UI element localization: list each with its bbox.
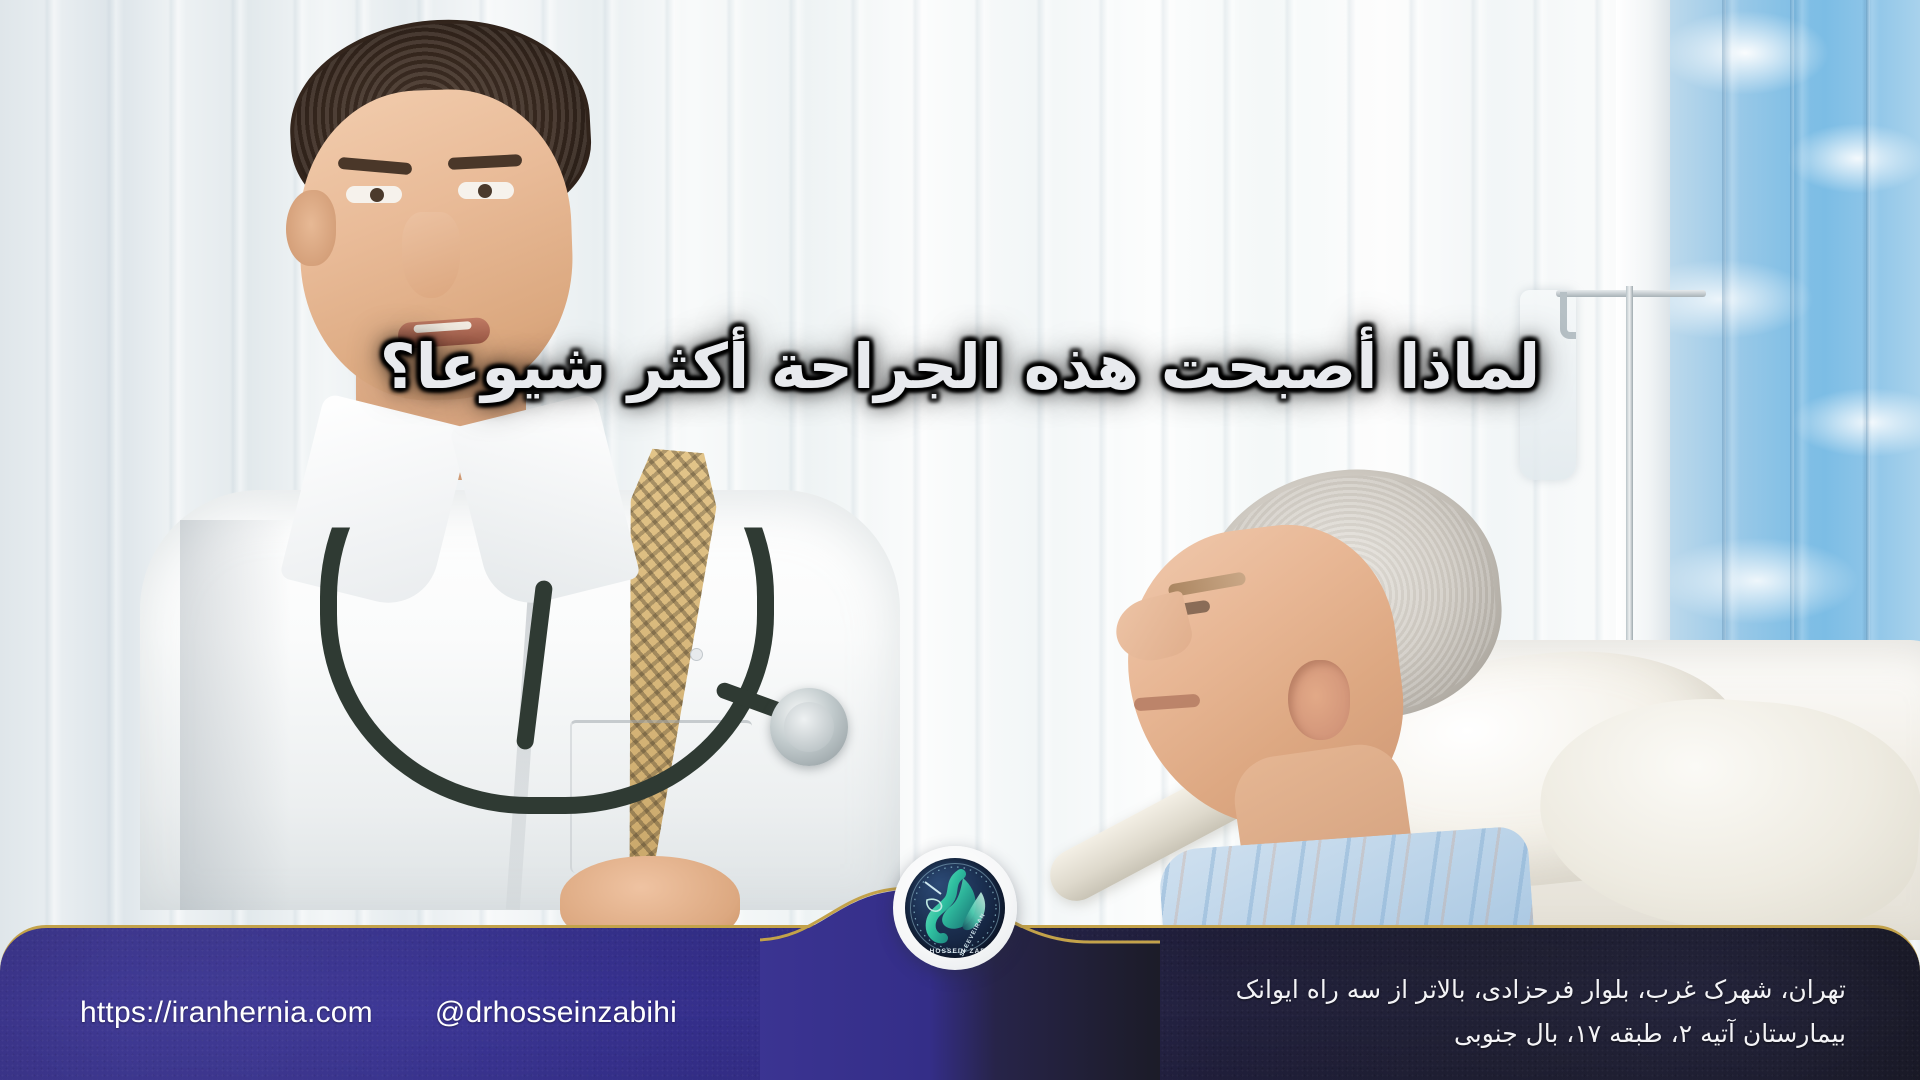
brand-logo[interactable]: SLEEVEIRAN DR. HOSSEIN ZABIHI — [893, 846, 1017, 970]
page-title: لماذا أصبحت هذه الجراحة أكثر شيوعا؟ — [0, 330, 1920, 403]
website-link[interactable]: https://iranhernia.com — [80, 996, 373, 1030]
address-line-1: تهران، شهرک غرب، بلوار فرحزادی، بالاتر ا… — [1146, 968, 1846, 1012]
doctor-nose — [402, 212, 460, 298]
doctor-figure — [170, 20, 890, 890]
stethoscope-chestpiece — [770, 688, 848, 766]
patient-ear — [1288, 660, 1350, 740]
clinic-address: تهران، شهرک غرب، بلوار فرحزادی، بالاتر ا… — [1146, 968, 1846, 1055]
patient-figure — [1090, 470, 1550, 940]
coat-shadow — [180, 520, 290, 910]
logo-disc: SLEEVEIRAN DR. HOSSEIN ZABIHI — [905, 858, 1005, 958]
footer-links: https://iranhernia.com @drhosseinzabihi — [80, 996, 677, 1030]
stomach-sleeve-icon — [905, 858, 1005, 958]
address-line-2: بیمارستان آتیه ۲، طبقه ۱۷، بال جنوبی — [1146, 1012, 1846, 1056]
doctor-ear — [286, 190, 336, 266]
doctor-eye-right — [458, 182, 514, 199]
social-handle[interactable]: @drhosseinzabihi — [435, 996, 677, 1030]
poster-canvas: لماذا أصبحت هذه الجراحة أكثر شيوعا؟ http… — [0, 0, 1920, 1080]
logo-brandname: DR. HOSSEIN ZABIHI — [905, 948, 1005, 955]
doctor-eye-left — [346, 186, 402, 203]
